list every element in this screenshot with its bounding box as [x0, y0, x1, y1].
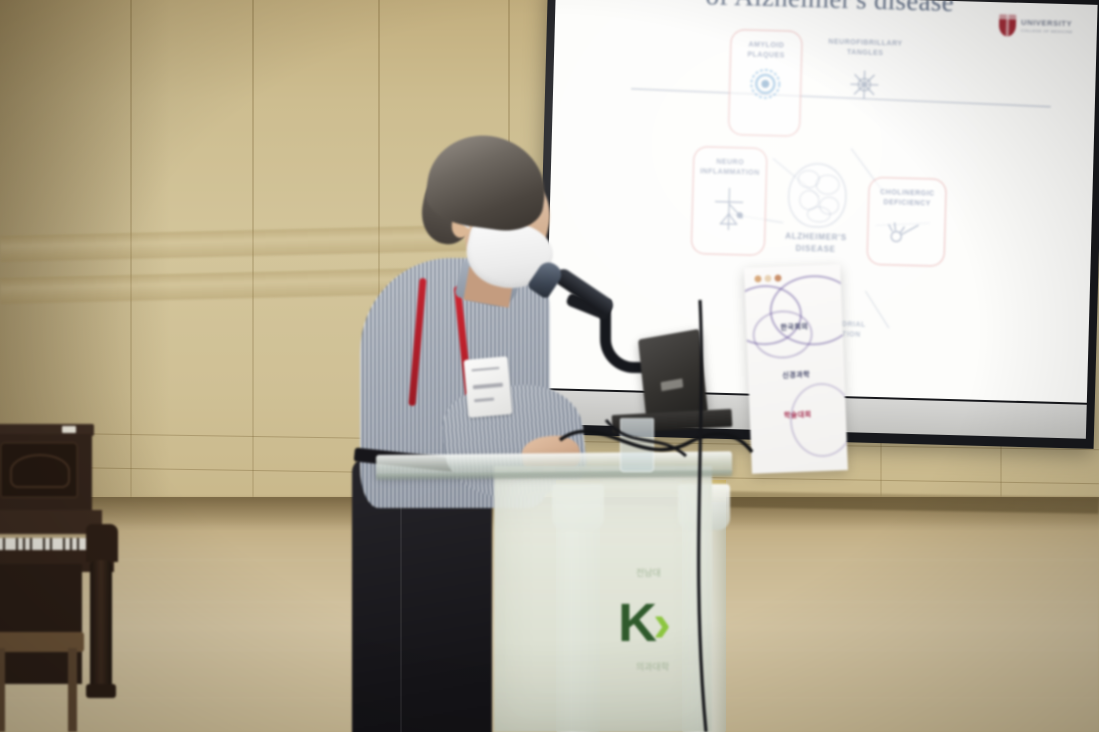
podium-logo-accent: › — [653, 593, 667, 653]
node-label: INFLAMMATION — [699, 167, 761, 179]
diagram-node-neurofibrillary-tangles: NEUROFIBRILLARY TANGLES — [821, 37, 909, 106]
center-label-line2: DISEASE — [795, 243, 835, 256]
podium-logo: K› — [618, 596, 667, 650]
presentation-photo: of Alzheimer's disease UNIVERSITY COLLEG… — [0, 0, 1099, 732]
brain-icon — [787, 163, 847, 229]
logo-subtitle: COLLEGE OF MEDICINE — [1021, 29, 1073, 34]
laptop-brand-logo — [661, 378, 684, 391]
laptop[interactable] — [638, 329, 708, 423]
slide-title: of Alzheimer's disease — [705, 0, 954, 18]
neuron-icon — [886, 215, 927, 250]
podium-korean-top: 전남대 — [636, 566, 661, 579]
node-label: PLAQUES — [736, 50, 796, 62]
plaque-icon — [748, 67, 783, 102]
water-glass — [620, 418, 654, 472]
diagram-node-neuro-inflammation: NEURO INFLAMMATION — [691, 146, 768, 256]
event-banner: 한국회의 신경과학 학술대회 — [744, 264, 848, 474]
university-logo: UNIVERSITY COLLEGE OF MEDICINE — [999, 14, 1074, 38]
upright-piano — [0, 424, 130, 724]
center-label-line1: ALZHEIMER'S — [785, 231, 847, 245]
banner-text-line2: 신경과학 — [754, 368, 838, 382]
piano-carving — [10, 454, 70, 488]
logo-name: UNIVERSITY — [1021, 19, 1073, 28]
podium-korean-bottom: 의과대학 — [636, 660, 669, 673]
diagram-node-cholinergic-deficiency: CHOLINERGIC DEFICIENCY — [866, 177, 946, 267]
podium-front-panel — [494, 466, 712, 732]
name-badge — [464, 356, 513, 418]
diagram-center-node: ALZHEIMER'S DISEASE — [785, 163, 849, 257]
tangle-icon — [821, 64, 908, 106]
piano-label — [62, 426, 76, 433]
diagram-node-amyloid-plaques: AMYLOID PLAQUES — [728, 29, 803, 137]
crest-icon — [999, 14, 1017, 36]
banner-dots — [754, 274, 781, 282]
node-label: DEFICIENCY — [874, 198, 940, 210]
inflammation-icon — [706, 184, 751, 235]
